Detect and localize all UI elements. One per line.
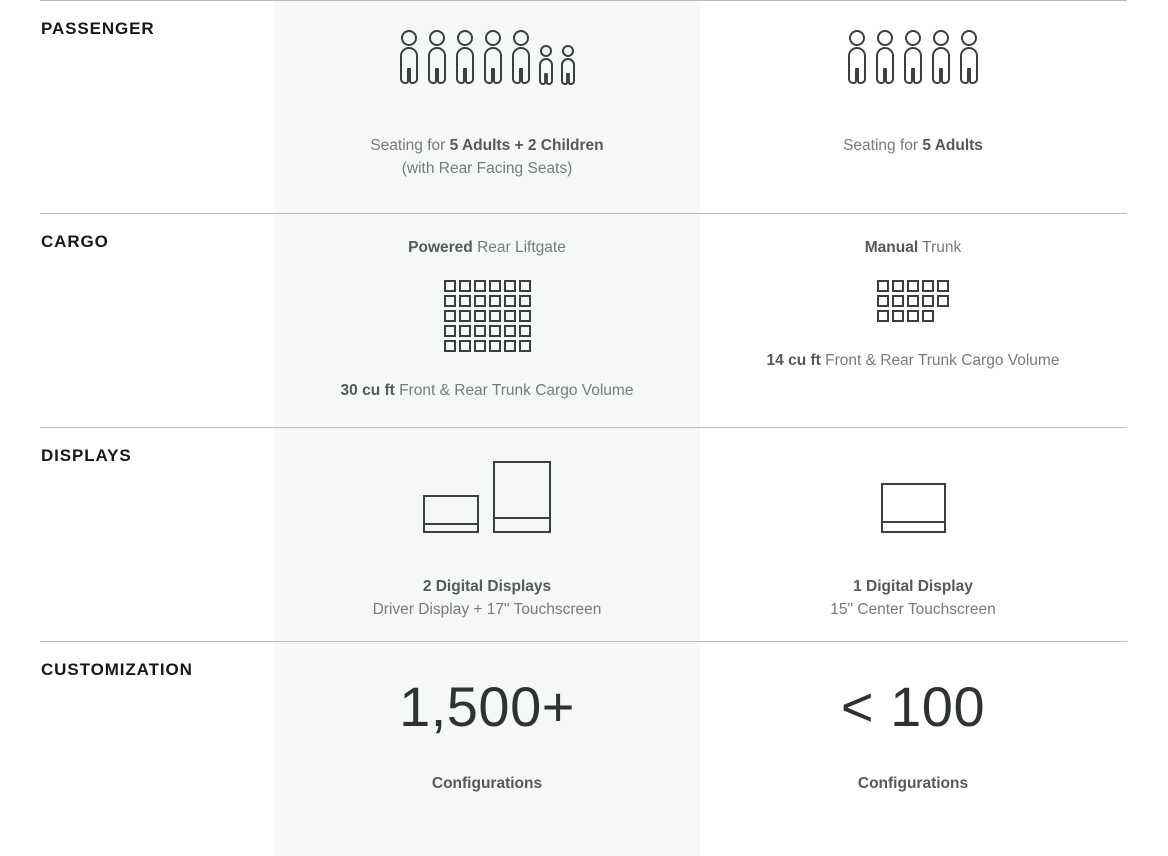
configuration-count: < 100 [841, 673, 985, 741]
cargo-volume-rest: Front & Rear Trunk Cargo Volume [821, 352, 1060, 369]
cargo-box [519, 325, 531, 337]
cargo-volume-value: 14 cu ft [767, 352, 821, 369]
spec-row-passenger: PASSENGER [0, 0, 1168, 213]
person-icon [509, 29, 533, 94]
cargo-box [519, 340, 531, 352]
cargo-access-rest: Trunk [918, 239, 961, 256]
passenger-icons-left [397, 30, 577, 94]
cargo-box [877, 310, 889, 322]
cargo-volume-value: 30 cu ft [341, 382, 395, 399]
cargo-box [907, 310, 919, 322]
configuration-label: Configurations [432, 775, 542, 793]
passenger-right-cell: Seating for 5 Adults [700, 0, 1126, 213]
passenger-seating-value: 5 Adults + 2 Children [450, 137, 604, 154]
cargo-boxes-icon [444, 280, 531, 352]
cargo-box [459, 325, 471, 337]
cargo-left-cell: Powered Rear Liftgate [274, 213, 700, 427]
passenger-seating-value: 5 Adults [922, 137, 983, 154]
cargo-box [459, 280, 471, 292]
cargo-grid-row [877, 280, 949, 292]
row-label-cell-passenger: PASSENGER [0, 0, 274, 213]
cargo-box [444, 340, 456, 352]
cargo-grid-row [444, 325, 531, 337]
cargo-box [444, 325, 456, 337]
row-divider [40, 427, 1127, 428]
spec-row-cargo: CARGO Powered Rear Liftgate [0, 213, 1168, 427]
screen-base [493, 517, 551, 519]
cargo-box [504, 280, 516, 292]
child-icon [559, 44, 577, 94]
cargo-grid-row [877, 295, 949, 307]
portrait-touchscreen-icon [493, 461, 551, 533]
cargo-access-rest: Rear Liftgate [473, 239, 566, 256]
person-icon [481, 29, 505, 94]
display-count-caption: 2 Digital Displays [373, 575, 602, 598]
customization-left-cell: 1,500+ Configurations [274, 641, 700, 856]
display-detail-caption: 15" Center Touchscreen [830, 598, 995, 621]
cargo-box [922, 310, 934, 322]
cargo-box [474, 325, 486, 337]
spec-row-displays: DISPLAYS 2 Digital Displays Driver Displ… [0, 427, 1168, 641]
passenger-left-cell: Seating for 5 Adults + 2 Children (with … [274, 0, 700, 213]
cargo-box [474, 340, 486, 352]
display-detail-caption: Driver Display + 17" Touchscreen [373, 598, 602, 621]
row-label-displays: DISPLAYS [41, 446, 274, 466]
cargo-access-heading: Powered Rear Liftgate [408, 237, 566, 259]
cargo-box [504, 325, 516, 337]
row-divider [40, 0, 1127, 1]
cargo-box [922, 280, 934, 292]
cargo-box [892, 310, 904, 322]
row-label-cell-cargo: CARGO [0, 213, 274, 427]
display-captions-left: 2 Digital Displays Driver Display + 17" … [373, 575, 602, 621]
passenger-captions-right: Seating for 5 Adults [843, 134, 983, 157]
cargo-box [474, 280, 486, 292]
configuration-count: 1,500+ [399, 673, 575, 741]
cargo-box [489, 340, 501, 352]
display-count-caption: 1 Digital Display [830, 575, 995, 598]
cargo-grid-row [877, 310, 949, 322]
person-icon [397, 29, 421, 94]
passenger-seating-subcaption: (with Rear Facing Seats) [370, 157, 603, 180]
cargo-box [489, 310, 501, 322]
center-touchscreen-icon [881, 483, 946, 533]
cargo-box [444, 280, 456, 292]
cargo-box [504, 340, 516, 352]
cargo-box [892, 295, 904, 307]
person-icon [929, 29, 953, 94]
cargo-box [937, 280, 949, 292]
cargo-volume-caption: 30 cu ft Front & Rear Trunk Cargo Volume [341, 379, 634, 402]
cargo-box [444, 310, 456, 322]
row-label-cargo: CARGO [41, 232, 274, 252]
cargo-boxes-icon [877, 280, 949, 322]
spec-row-customization: CUSTOMIZATION 1,500+ Configurations < 10… [0, 641, 1168, 856]
cargo-box [459, 310, 471, 322]
cargo-grid-row [444, 310, 531, 322]
cargo-box [519, 280, 531, 292]
cargo-box [474, 295, 486, 307]
row-label-cell-displays: DISPLAYS [0, 427, 274, 641]
cargo-box [459, 295, 471, 307]
display-icons-left [423, 457, 551, 533]
cargo-grid-row [444, 340, 531, 352]
cargo-access-heading: Manual Trunk [865, 237, 961, 259]
person-icon [845, 29, 869, 94]
cargo-box [504, 310, 516, 322]
person-icon [873, 29, 897, 94]
passenger-seating-prefix: Seating for [843, 137, 922, 154]
driver-display-icon [423, 495, 479, 533]
person-icon [901, 29, 925, 94]
cargo-volume-rest: Front & Rear Trunk Cargo Volume [395, 382, 634, 399]
cargo-box [877, 280, 889, 292]
cargo-box [504, 295, 516, 307]
cargo-box [937, 295, 949, 307]
row-divider [40, 641, 1127, 642]
row-label-passenger: PASSENGER [41, 19, 274, 39]
cargo-box [907, 295, 919, 307]
cargo-box [519, 295, 531, 307]
cargo-volume-caption: 14 cu ft Front & Rear Trunk Cargo Volume [767, 349, 1060, 372]
spec-rows: PASSENGER [0, 0, 1168, 856]
cargo-box [892, 280, 904, 292]
display-captions-right: 1 Digital Display 15" Center Touchscreen [830, 575, 995, 621]
child-icon [537, 44, 555, 94]
row-divider [40, 213, 1127, 214]
display-icons-right [881, 457, 946, 533]
cargo-box [922, 295, 934, 307]
person-icon [957, 29, 981, 94]
cargo-box [444, 295, 456, 307]
cargo-box [474, 310, 486, 322]
screen-base [423, 523, 479, 525]
cargo-box [489, 295, 501, 307]
vehicle-comparison-table: PASSENGER [0, 0, 1168, 856]
person-icon [453, 29, 477, 94]
cargo-grid-row [444, 280, 531, 292]
passenger-seating-caption: Seating for 5 Adults [843, 134, 983, 157]
cargo-right-cell: Manual Trunk [700, 213, 1126, 427]
cargo-box [459, 340, 471, 352]
row-label-customization: CUSTOMIZATION [41, 660, 274, 680]
cargo-access-type: Manual [865, 239, 918, 256]
cargo-box [519, 310, 531, 322]
displays-left-cell: 2 Digital Displays Driver Display + 17" … [274, 427, 700, 641]
person-icon [425, 29, 449, 94]
cargo-access-type: Powered [408, 239, 473, 256]
cargo-box [877, 295, 889, 307]
displays-right-cell: 1 Digital Display 15" Center Touchscreen [700, 427, 1126, 641]
passenger-seating-caption: Seating for 5 Adults + 2 Children [370, 134, 603, 157]
passenger-icons-right [845, 30, 981, 94]
row-label-cell-customization: CUSTOMIZATION [0, 641, 274, 856]
cargo-box [489, 280, 501, 292]
cargo-box [489, 325, 501, 337]
screen-base [881, 521, 946, 523]
passenger-seating-prefix: Seating for [370, 137, 449, 154]
cargo-box [907, 280, 919, 292]
configuration-label: Configurations [858, 775, 968, 793]
customization-right-cell: < 100 Configurations [700, 641, 1126, 856]
passenger-captions-left: Seating for 5 Adults + 2 Children (with … [370, 134, 603, 180]
cargo-grid-row [444, 295, 531, 307]
